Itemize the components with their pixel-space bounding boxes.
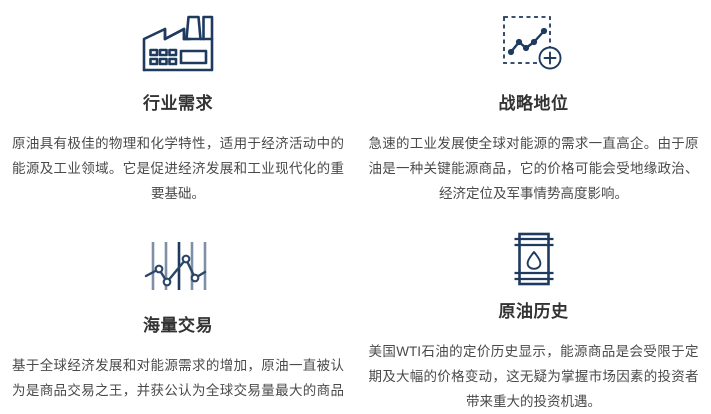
feature-card-industry-demand: 行业需求 原油具有极佳的物理和化学特性，适用于经济活动中的能源及工业领域。它是促… bbox=[0, 0, 356, 207]
feature-grid: 行业需求 原油具有极佳的物理和化学特性，适用于经济活动中的能源及工业领域。它是促… bbox=[0, 0, 711, 414]
card-body: 急速的工业发展使全球对能源的需求一直高企。由于原油是一种关键能源商品，它的价格可… bbox=[365, 131, 703, 206]
card-body: 基于全球经济发展和对能源需求的增加，原油一直被认为是商品交易之王，并获公认为全球… bbox=[8, 353, 348, 403]
card-title: 行业需求 bbox=[143, 94, 213, 114]
card-body: 原油具有极佳的物理和化学特性，适用于经济活动中的能源及工业领域。它是促进经济发展… bbox=[8, 131, 348, 206]
factory-icon bbox=[141, 8, 215, 80]
feature-card-crude-oil-history: 原油历史 美国WTI石油的定价历史显示，能源商品是会受限于定期及大幅的价格变动，… bbox=[356, 207, 711, 414]
card-title: 战略地位 bbox=[499, 94, 569, 114]
card-title: 原油历史 bbox=[499, 302, 569, 322]
card-body: 美国WTI石油的定价历史显示，能源商品是会受限于定期及大幅的价格变动，这无疑为掌… bbox=[365, 339, 703, 414]
feature-card-strategic-position: 战略地位 急速的工业发展使全球对能源的需求一直高企。由于原油是一种关键能源商品，… bbox=[356, 0, 711, 207]
card-title: 海量交易 bbox=[143, 316, 213, 336]
feature-card-massive-trading: 海量交易 基于全球经济发展和对能源需求的增加，原油一直被认为是商品交易之王，并获… bbox=[0, 207, 356, 414]
oil-barrel-icon bbox=[512, 230, 556, 288]
trading-volume-icon bbox=[143, 230, 213, 302]
growth-chart-icon bbox=[501, 8, 567, 80]
